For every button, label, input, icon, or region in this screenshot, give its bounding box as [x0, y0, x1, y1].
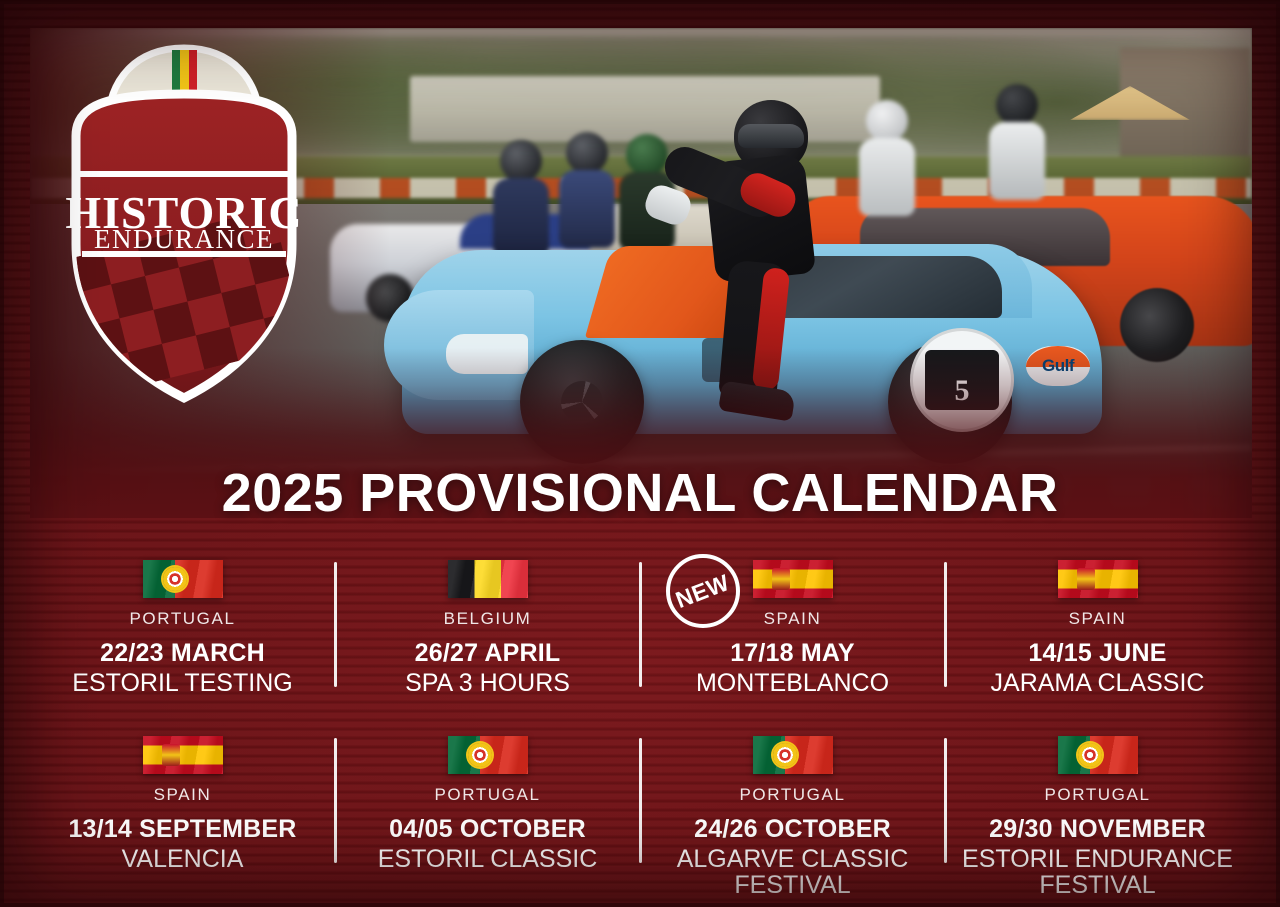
event-name: ESTORIL ENDURANCE FESTIVAL	[958, 846, 1238, 898]
photo-crew-member	[996, 84, 1045, 200]
new-badge-label: NEW	[672, 569, 733, 614]
flag-wrap	[448, 560, 528, 600]
flag-emblem-icon	[162, 744, 180, 766]
photo-crew-body	[989, 122, 1045, 200]
calendar-grid: PORTUGAL 22/23 MARCH ESTORIL TESTING BEL…	[30, 548, 1250, 900]
flag-portugal-icon	[143, 560, 223, 598]
new-badge: NEW	[666, 554, 740, 628]
event-country: PORTUGAL	[434, 785, 540, 805]
photo-crew-helmet	[626, 134, 668, 176]
event-country: PORTUGAL	[129, 609, 235, 629]
flag-wrap	[753, 560, 833, 600]
flag-portugal-icon	[448, 736, 528, 774]
logo-shield-icon: HISTORIC ENDURANCE	[60, 32, 308, 410]
photo-crew-helmet	[500, 140, 542, 182]
photo-crew-member	[500, 140, 549, 256]
flag-emblem-icon	[772, 568, 790, 590]
flag-belgium-icon	[448, 560, 528, 598]
event-name: SPA 3 HOURS	[405, 670, 570, 696]
logo-text-endurance: ENDURANCE	[94, 224, 274, 254]
flag-portugal-icon	[753, 736, 833, 774]
event-date: 14/15 JUNE	[1028, 639, 1166, 668]
event-date: 13/14 SEPTEMBER	[68, 815, 296, 844]
event-name: ESTORIL CLASSIC	[378, 846, 598, 872]
photo-crew-body	[859, 138, 915, 216]
photo-crew-helmet	[996, 84, 1038, 126]
flag-wrap	[143, 736, 223, 776]
event-date: 04/05 OCTOBER	[389, 815, 586, 844]
event-country: SPAIN	[154, 785, 212, 805]
event-country: BELGIUM	[444, 609, 532, 629]
event-name: ALGARVE CLASSIC FESTIVAL	[653, 846, 933, 898]
event-card-estoril-testing[interactable]: PORTUGAL 22/23 MARCH ESTORIL TESTING	[30, 548, 335, 724]
photo-crew-member	[866, 100, 915, 216]
photo-crew-member	[566, 132, 615, 248]
event-date: 26/27 APRIL	[415, 639, 561, 668]
flag-wrap	[143, 560, 223, 600]
flag-wrap	[448, 736, 528, 776]
event-name: JARAMA CLASSIC	[991, 670, 1205, 696]
photo-crew-helmet	[866, 100, 908, 142]
event-country: PORTUGAL	[739, 785, 845, 805]
flag-emblem-icon	[773, 743, 797, 767]
flag-wrap	[753, 736, 833, 776]
event-card-estoril-classic[interactable]: PORTUGAL 04/05 OCTOBER ESTORIL CLASSIC	[335, 724, 640, 900]
photo-crew-body	[559, 170, 615, 248]
flag-emblem-icon	[468, 743, 492, 767]
event-card-monteblanco[interactable]: NEW SPAIN 17/18 MAY MONTEBLANCO	[640, 548, 945, 724]
event-card-spa-3-hours[interactable]: BELGIUM 26/27 APRIL SPA 3 HOURS	[335, 548, 640, 724]
event-country: SPAIN	[764, 609, 822, 629]
event-name: ESTORIL TESTING	[72, 670, 292, 696]
flag-spain-icon	[143, 736, 223, 774]
event-name: MONTEBLANCO	[696, 670, 889, 696]
flag-spain-icon	[1058, 560, 1138, 598]
gulf-logo-text: Gulf	[1042, 356, 1074, 376]
event-card-valencia[interactable]: SPAIN 13/14 SEPTEMBER VALENCIA	[30, 724, 335, 900]
historic-endurance-logo: HISTORIC ENDURANCE	[60, 32, 308, 410]
event-card-algarve-classic-festival[interactable]: PORTUGAL 24/26 OCTOBER ALGARVE CLASSIC F…	[640, 724, 945, 900]
flag-emblem-icon	[1078, 743, 1102, 767]
event-date: 24/26 OCTOBER	[694, 815, 891, 844]
photo-crew-body	[493, 178, 549, 256]
page-title: 2025 PROVISIONAL CALENDAR	[0, 462, 1280, 524]
flag-emblem-icon	[1077, 568, 1095, 590]
event-card-estoril-endurance-festival[interactable]: PORTUGAL 29/30 NOVEMBER ESTORIL ENDURANC…	[945, 724, 1250, 900]
flag-spain-icon	[753, 560, 833, 598]
calendar-row: PORTUGAL 22/23 MARCH ESTORIL TESTING BEL…	[30, 548, 1250, 724]
event-date: 17/18 MAY	[730, 639, 855, 668]
flag-portugal-icon	[1058, 736, 1138, 774]
flag-wrap	[1058, 560, 1138, 600]
photo-driver-visor	[738, 124, 804, 148]
calendar-row: SPAIN 13/14 SEPTEMBER VALENCIA PORTUGAL …	[30, 724, 1250, 900]
event-country: PORTUGAL	[1044, 785, 1150, 805]
flag-emblem-icon	[163, 567, 187, 591]
event-date: 29/30 NOVEMBER	[989, 815, 1206, 844]
photo-crew-helmet	[566, 132, 608, 174]
flag-wrap	[1058, 736, 1138, 776]
event-date: 22/23 MARCH	[100, 639, 265, 668]
event-card-jarama-classic[interactable]: SPAIN 14/15 JUNE JARAMA CLASSIC	[945, 548, 1250, 724]
calendar-poster: 5 Gulf	[0, 0, 1280, 907]
event-name: VALENCIA	[122, 846, 244, 872]
event-country: SPAIN	[1069, 609, 1127, 629]
